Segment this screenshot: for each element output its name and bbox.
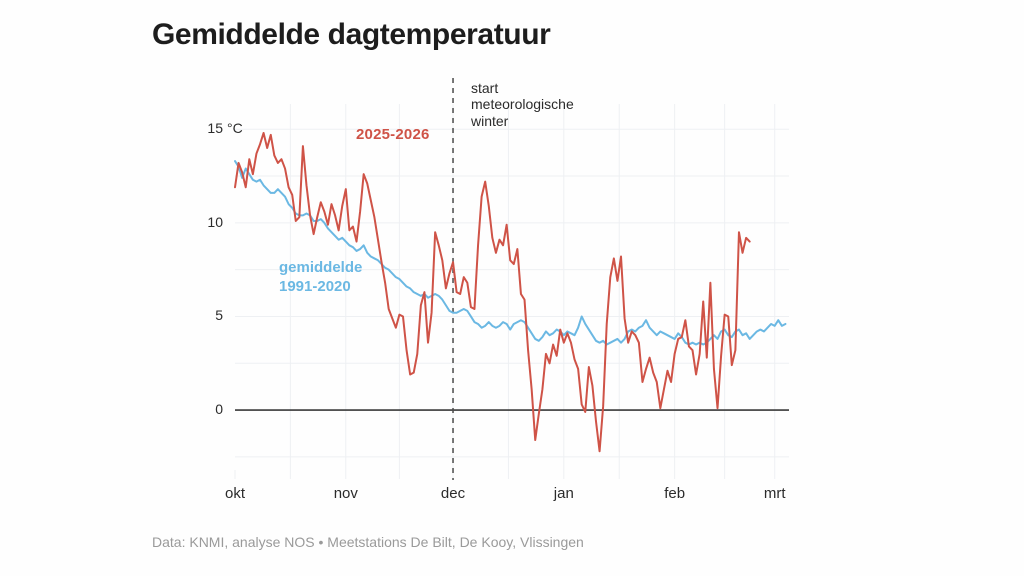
x-tick-label: dec [441,485,465,502]
x-tick-label: jan [554,485,574,502]
series-label-normal-line2: 1991-2020 [279,277,362,296]
series-label-normal-line1: gemiddelde [279,258,362,277]
x-tick-label: feb [664,485,685,502]
y-tick-label: 5 [173,307,223,323]
y-tick-label: 15 [173,120,223,136]
winter-annotation-line2: meteorologische [471,96,574,112]
chart-page: Gemiddelde dagtemperatuur 051015 oktnovd… [0,0,1024,576]
x-tick-marks [235,470,775,479]
y-axis-unit: °C [227,120,243,136]
x-tick-label: nov [334,485,358,502]
x-tick-label: okt [225,485,245,502]
source-note: Data: KNMI, analyse NOS • Meetstations D… [152,534,584,550]
series-label-normal: gemiddelde 1991-2020 [279,258,362,296]
x-tick-label: mrt [764,485,786,502]
winter-annotation-line1: start [471,80,574,96]
chart-figure: 051015 oktnovdecjanfebmrt °C 2025-2026 g… [0,0,1024,576]
y-tick-label: 10 [173,214,223,230]
winter-annotation-line3: winter [471,113,574,129]
series-label-current: 2025-2026 [356,126,430,143]
y-tick-label: 0 [173,401,223,417]
winter-annotation: start meteorologische winter [471,80,574,129]
